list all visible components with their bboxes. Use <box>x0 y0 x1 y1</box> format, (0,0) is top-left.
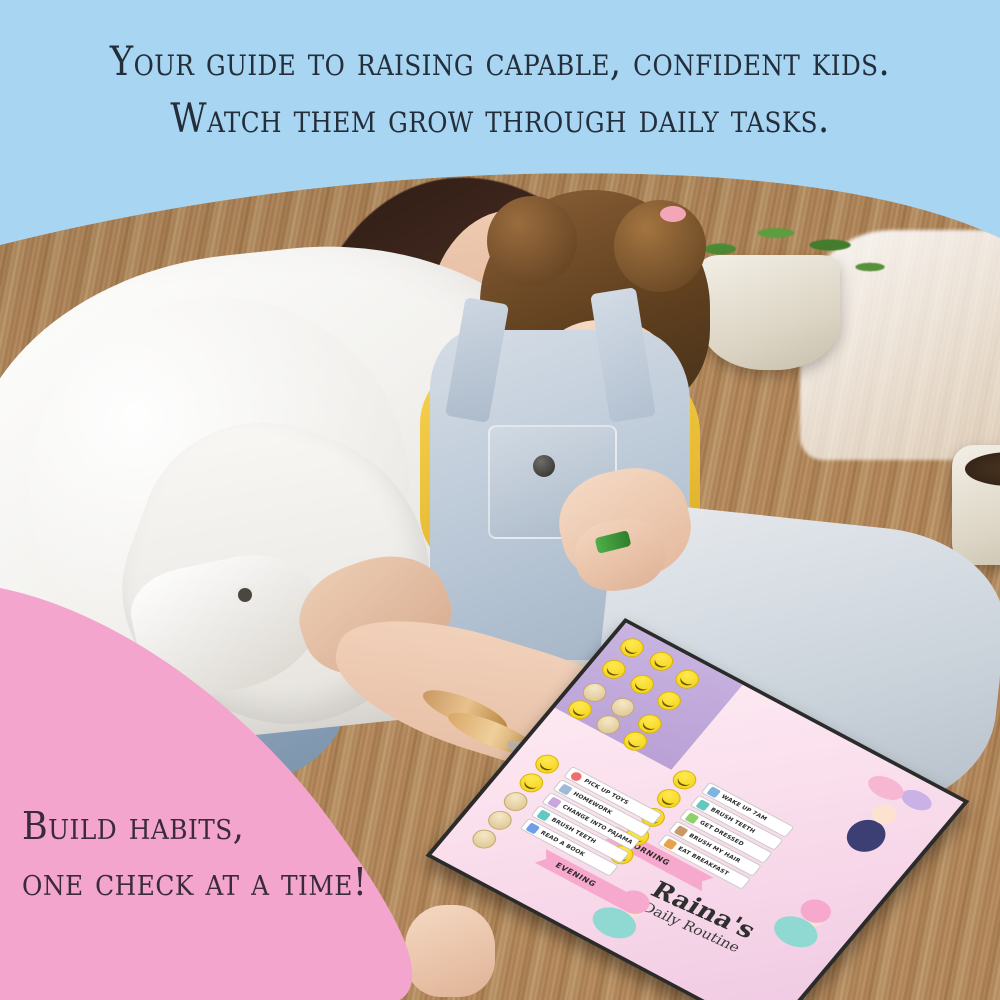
hair-tie-icon <box>660 206 686 222</box>
coin-sticker[interactable] <box>468 826 501 852</box>
notebook-icon <box>558 783 573 795</box>
book-icon <box>526 822 541 834</box>
smiley-sticker[interactable] <box>653 688 686 714</box>
child-foot <box>405 905 495 997</box>
subline-line-1: Build habits, <box>22 798 367 854</box>
breakfast-icon <box>663 838 678 850</box>
headline-line-2: Watch them grow through daily tasks. <box>60 91 940 148</box>
smiley-sticker[interactable] <box>671 666 704 692</box>
toothbrush-icon <box>696 799 711 811</box>
smiley-sticker[interactable] <box>616 635 649 661</box>
overall-buckle <box>533 455 555 477</box>
smiley-sticker[interactable] <box>645 648 678 674</box>
clothes-icon <box>685 812 700 824</box>
smiley-sticker[interactable] <box>626 671 659 697</box>
subline: Build habits, one check at a time! <box>22 798 397 910</box>
headline-line-1: Your guide to raising capable, confident… <box>60 34 940 91</box>
subline-line-2: one check at a time! <box>22 854 367 910</box>
smiley-sticker[interactable] <box>597 656 630 682</box>
pajama-icon <box>547 796 562 808</box>
planter-pot-left <box>700 255 840 370</box>
toothbrush-icon <box>536 809 551 821</box>
cuff-button-icon <box>238 588 252 602</box>
child-pigtail-left <box>487 196 577 286</box>
hairbrush-icon <box>674 825 689 837</box>
headline: Your guide to raising capable, confident… <box>0 34 1000 148</box>
poster-canvas: MORNING WAKE UP 7AM <box>0 0 1000 1000</box>
bed-icon <box>707 786 722 798</box>
ball-icon <box>569 770 584 782</box>
